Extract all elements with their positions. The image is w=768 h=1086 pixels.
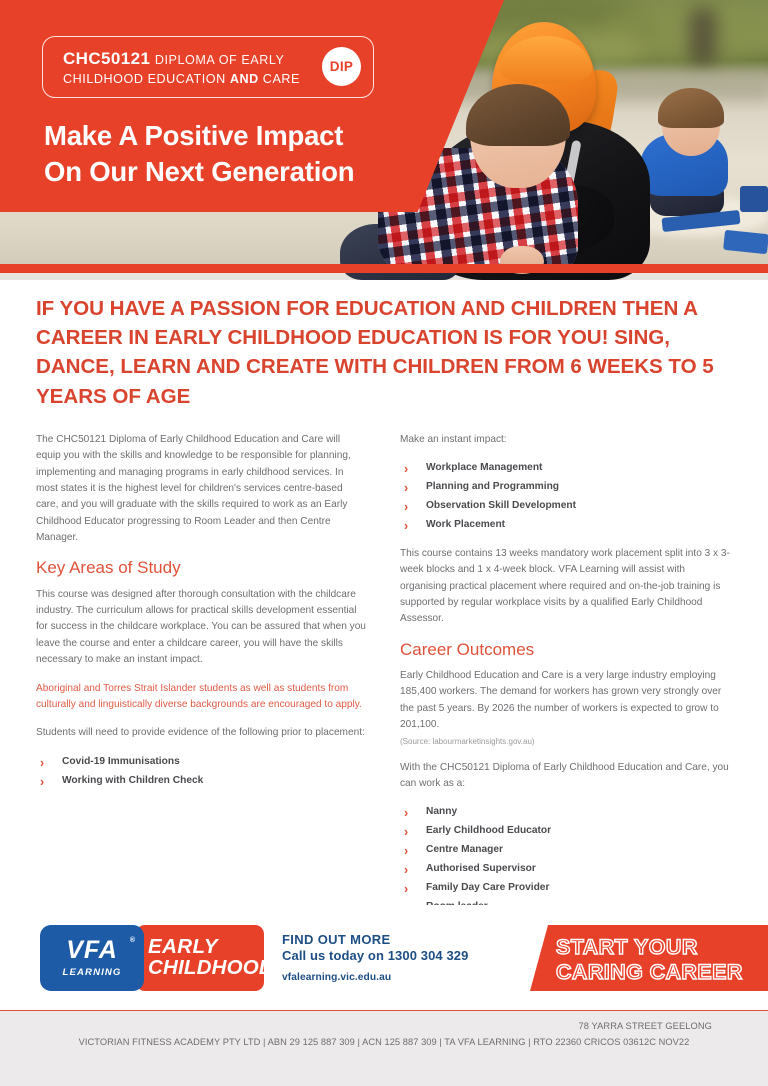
- right-content-column: Make an instant impact: Workplace Manage…: [400, 432, 730, 928]
- website-link[interactable]: vfalearning.vic.edu.au: [282, 972, 468, 983]
- course-title-and: AND: [230, 72, 259, 86]
- course-title-part2: CHILDHOOD EDUCATION: [63, 72, 230, 86]
- company-address: 78 YARRA STREET GEELONG: [578, 1021, 712, 1031]
- hero-title-line2: On Our Next Generation: [44, 154, 354, 190]
- career-outcomes-heading: Career Outcomes: [400, 640, 730, 660]
- list-item: Observation Skill Development: [400, 498, 730, 515]
- registered-trademark-icon: ®: [130, 937, 135, 944]
- evidence-intro: Students will need to provide evidence o…: [36, 725, 366, 741]
- course-code-line: CHC50121 DIPLOMA OF EARLY: [63, 48, 300, 71]
- sand-toy: [740, 186, 768, 212]
- course-title-part1: DIPLOMA OF EARLY: [155, 53, 285, 67]
- key-areas-heading: Key Areas of Study: [36, 558, 366, 578]
- qualification-level-chip: DIP: [322, 47, 361, 86]
- start-banner-line2: CARING CAREER: [556, 960, 743, 985]
- list-item: Early Childhood Educator: [400, 823, 730, 840]
- list-item: Covid-19 Immunisations: [36, 754, 366, 771]
- start-banner-text: START YOUR CARING CAREER: [556, 935, 743, 985]
- early-childhood-logo: EARLY CHILDHOOD: [136, 925, 264, 991]
- start-your-caring-career-banner: START YOUR CARING CAREER: [530, 925, 768, 991]
- evidence-list: Covid-19 Immunisations Working with Chil…: [36, 754, 366, 790]
- list-item: Authorised Supervisor: [400, 861, 730, 878]
- brochure-page: CHC50121 DIPLOMA OF EARLY CHILDHOOD EDUC…: [0, 0, 768, 1086]
- work-placement-paragraph: This course contains 13 weeks mandatory …: [400, 546, 730, 628]
- career-roles-list: Nanny Early Childhood Educator Centre Ma…: [400, 804, 730, 916]
- course-code-badge-text: CHC50121 DIPLOMA OF EARLY CHILDHOOD EDUC…: [63, 48, 300, 88]
- course-title-part3: CARE: [259, 72, 300, 86]
- start-banner-line1: START YOUR: [556, 935, 743, 960]
- career-data-source: (Source: labourmarketinsights.gov.au): [400, 736, 730, 747]
- learning-wordmark: LEARNING: [63, 967, 122, 978]
- course-code-badge: CHC50121 DIPLOMA OF EARLY CHILDHOOD EDUC…: [42, 36, 374, 98]
- left-content-column: The CHC50121 Diploma of Early Childhood …: [36, 432, 366, 801]
- career-outcomes-paragraph: Early Childhood Education and Care is a …: [400, 668, 730, 733]
- hero-red-divider-stripe: [0, 264, 768, 273]
- list-item: Planning and Programming: [400, 479, 730, 496]
- list-item: Working with Children Check: [36, 773, 366, 790]
- list-item: Workplace Management: [400, 460, 730, 477]
- find-out-more-label: FIND OUT MORE: [282, 932, 468, 948]
- inclusion-note: Aboriginal and Torres Strait Islander st…: [36, 681, 366, 714]
- vfa-wordmark: VFA: [66, 938, 118, 963]
- hero-title-line1: Make A Positive Impact: [44, 118, 354, 154]
- hero-title: Make A Positive Impact On Our Next Gener…: [44, 118, 354, 190]
- course-intro-paragraph: The CHC50121 Diploma of Early Childhood …: [36, 432, 366, 546]
- background-tree-trunk: [690, 8, 716, 66]
- impact-list: Workplace Management Planning and Progra…: [400, 460, 730, 534]
- list-item: Work Placement: [400, 517, 730, 534]
- course-code: CHC50121: [63, 49, 150, 68]
- page-headline: IF YOU HAVE A PASSION FOR EDUCATION AND …: [36, 294, 726, 411]
- list-item: Family Day Care Provider: [400, 880, 730, 897]
- impact-intro: Make an instant impact:: [400, 432, 730, 448]
- list-item: Centre Manager: [400, 842, 730, 859]
- roles-intro: With the CHC50121 Diploma of Early Child…: [400, 760, 730, 793]
- legal-band: 78 YARRA STREET GEELONG VICTORIAN FITNES…: [0, 1010, 768, 1086]
- sand-toy: [723, 230, 768, 254]
- childhood-wordmark: CHILDHOOD: [148, 958, 274, 979]
- hero-section: CHC50121 DIPLOMA OF EARLY CHILDHOOD EDUC…: [0, 0, 768, 280]
- vfa-early-childhood-logo: ® VFA LEARNING EARLY CHILDHOOD: [40, 925, 264, 991]
- course-title-line2: CHILDHOOD EDUCATION AND CARE: [63, 71, 300, 88]
- phone-line: Call us today on 1300 304 329: [282, 948, 468, 965]
- key-areas-paragraph: This course was designed after thorough …: [36, 587, 366, 669]
- list-item: Nanny: [400, 804, 730, 821]
- company-legal-details: VICTORIAN FITNESS ACADEMY PTY LTD | ABN …: [0, 1037, 768, 1047]
- contact-block: FIND OUT MORE Call us today on 1300 304 …: [282, 932, 468, 983]
- vfa-learning-logo: ® VFA LEARNING: [40, 925, 144, 991]
- early-wordmark: EARLY: [148, 937, 218, 958]
